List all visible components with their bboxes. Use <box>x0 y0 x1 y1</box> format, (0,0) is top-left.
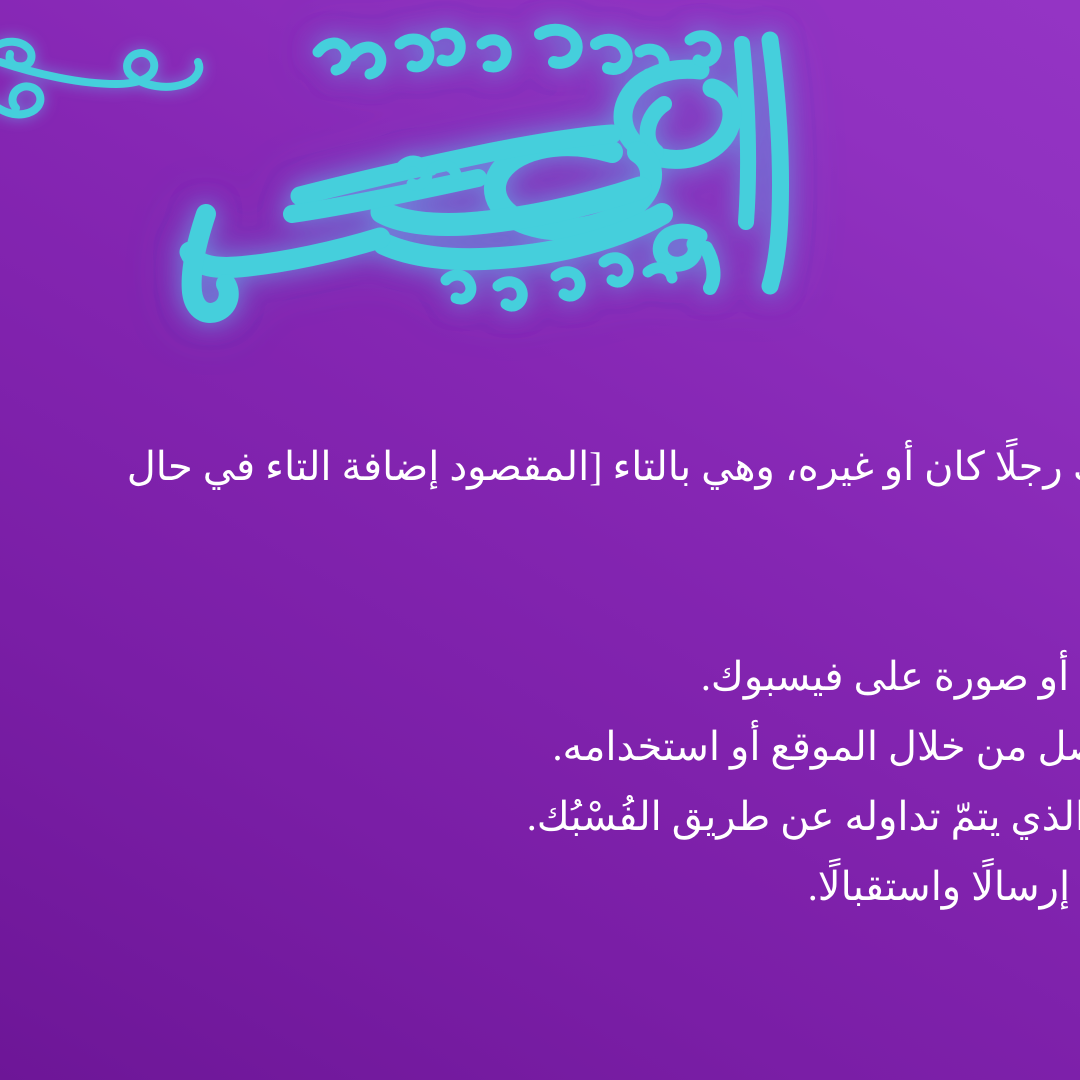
text-line: ي مع الفُسْبُك، إرسالًا واستقبالًا. <box>0 852 1080 922</box>
text-line: ى أو المنشور الذي يتمّ تداوله عن طريق ال… <box>0 782 1080 852</box>
text-line: فُسبكيّ. <box>0 572 1080 642</box>
slide-canvas: ب إلى الفُسْبُك رجلًا كان أو غيره، وهي ب… <box>0 0 1080 1080</box>
text-line: فُسببكُية] . <box>0 502 1080 572</box>
text-line: ن عملية التواصل من خلال الموقع أو استخدا… <box>0 712 1080 782</box>
text-line: ى نشر أي نص أو صورة على فيسبوك. <box>0 642 1080 712</box>
calligraphic-tail-icon <box>0 18 240 158</box>
header-artwork <box>0 0 1080 340</box>
text-line: ب إلى الفُسْبُك رجلًا كان أو غيره، وهي ب… <box>0 432 1080 502</box>
definition-text-block: ب إلى الفُسْبُك رجلًا كان أو غيره، وهي ب… <box>0 432 1080 922</box>
slide-clip-frame: ب إلى الفُسْبُك رجلًا كان أو غيره، وهي ب… <box>0 0 1080 1080</box>
calligraphy-title <box>0 0 1080 330</box>
